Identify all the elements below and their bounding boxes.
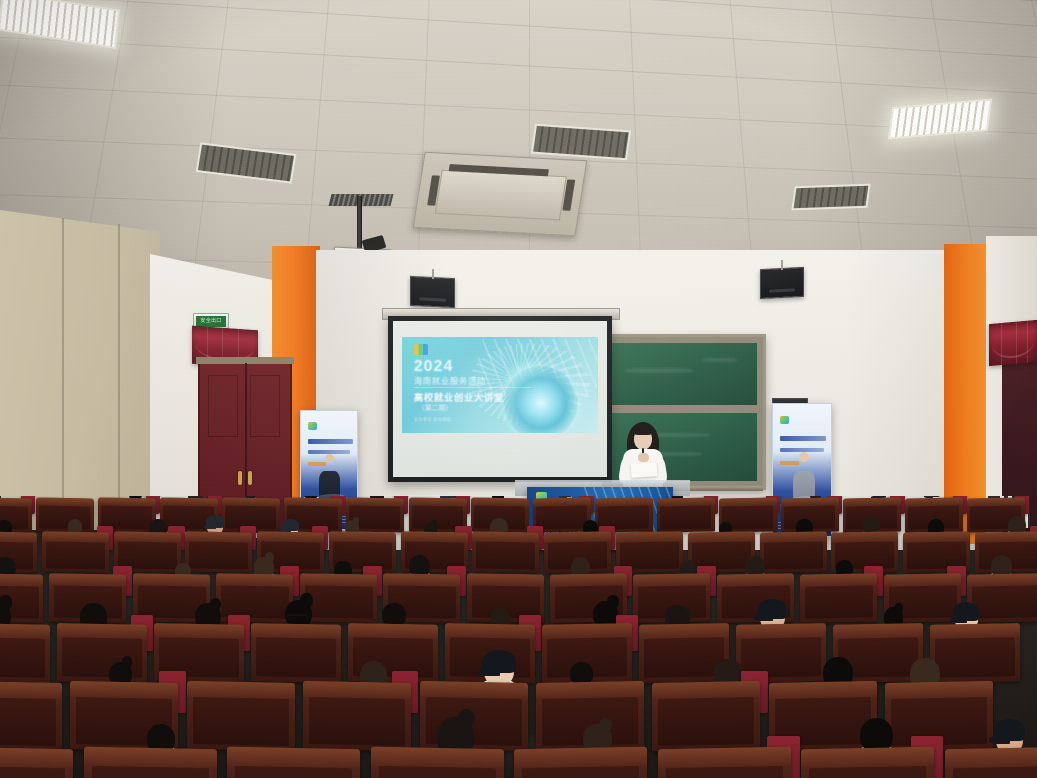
seat-back-panel bbox=[809, 766, 926, 778]
seat-back-panel bbox=[764, 541, 823, 569]
audience-person-cap bbox=[206, 515, 224, 528]
seat-back-panel bbox=[0, 766, 65, 778]
seat-top-rail bbox=[658, 747, 791, 768]
lecture-hall-seat[interactable] bbox=[801, 747, 934, 778]
projector-mount-pole bbox=[357, 196, 362, 252]
lecture-hall-seat[interactable] bbox=[652, 681, 760, 751]
wall-beige-left bbox=[0, 210, 160, 530]
seat-back-panel bbox=[310, 697, 405, 745]
seat-top-rail bbox=[187, 681, 295, 699]
door-handle-right[interactable] bbox=[248, 471, 252, 485]
seat-back-panel bbox=[659, 697, 754, 745]
exit-sign-label: 安全出口 bbox=[200, 319, 221, 324]
seat-back-panel bbox=[221, 585, 289, 619]
seat-top-rail bbox=[801, 747, 934, 768]
wall-seam-1 bbox=[62, 218, 64, 530]
audience-person-hair-bun bbox=[353, 517, 359, 524]
audience-person-cap bbox=[953, 602, 979, 620]
presenter-notes bbox=[631, 462, 658, 478]
seat-top-rail bbox=[84, 747, 217, 768]
banner-left-title-1 bbox=[308, 439, 353, 444]
audience-person-hair-bun bbox=[894, 603, 903, 612]
seat-top-rail bbox=[133, 573, 210, 586]
seat-back-panel bbox=[660, 506, 711, 530]
audience-person-hair-bun bbox=[458, 709, 475, 727]
lecture-hall-seat[interactable] bbox=[0, 747, 73, 778]
seat-top-rail bbox=[303, 681, 411, 699]
seat-top-rail bbox=[0, 573, 43, 586]
seat-back-panel bbox=[379, 766, 496, 778]
lecture-hall-seat[interactable] bbox=[303, 681, 411, 751]
seat-top-rail bbox=[383, 573, 460, 586]
lecture-hall-seat[interactable] bbox=[930, 623, 1020, 683]
seat-top-rail bbox=[227, 747, 360, 768]
seat-back-panel bbox=[692, 541, 751, 569]
projection-screen-surface: 2024 海南就业服务活动 高校就业创业大讲堂 （第二期） 主办单位 承办单位 bbox=[393, 321, 607, 477]
seat-top-rail bbox=[945, 747, 1037, 768]
audience-person-hair-bun bbox=[599, 718, 612, 732]
seat-back-panel bbox=[536, 506, 587, 530]
lecture-hall-seat[interactable] bbox=[187, 681, 295, 751]
seat-back-panel bbox=[953, 766, 1037, 778]
seat-back-panel bbox=[193, 697, 288, 745]
seat-top-rail bbox=[0, 531, 37, 542]
seat-back-panel bbox=[907, 541, 966, 569]
lecture-hall-seat[interactable] bbox=[84, 747, 217, 778]
seat-back-panel bbox=[189, 541, 248, 569]
seat-top-rail bbox=[514, 747, 647, 768]
seat-top-rail bbox=[717, 573, 794, 586]
presenter-hand bbox=[638, 453, 649, 462]
seat-back-panel bbox=[118, 541, 177, 569]
lecture-hall-seat[interactable] bbox=[185, 531, 252, 572]
seat-top-rail bbox=[550, 573, 627, 586]
door-panel-upper-left bbox=[208, 375, 238, 437]
wall-speaker-right bbox=[760, 267, 804, 299]
seat-back-panel bbox=[620, 541, 679, 569]
seat-top-rail bbox=[967, 573, 1037, 586]
ac-face-panel bbox=[435, 170, 566, 220]
audience-person-hair-bun bbox=[265, 552, 274, 562]
seat-back-panel bbox=[304, 585, 372, 619]
lecture-hall-seat[interactable] bbox=[657, 497, 715, 532]
seat-back-panel bbox=[92, 766, 209, 778]
banner-right-portrait-head bbox=[799, 452, 809, 462]
wall-speaker-left bbox=[410, 276, 455, 308]
lecture-hall-seat[interactable] bbox=[472, 531, 539, 572]
banner-left-header bbox=[301, 411, 357, 451]
audience-person-glasses bbox=[287, 614, 307, 616]
seat-back-panel bbox=[805, 585, 873, 619]
seat-top-rail bbox=[800, 573, 877, 586]
event-logo-icon bbox=[414, 344, 428, 355]
lecture-hall-seat[interactable] bbox=[800, 573, 877, 622]
seat-top-rail bbox=[70, 681, 178, 699]
audience-person-hair-bun bbox=[210, 598, 222, 610]
banner-left-logo-icon bbox=[308, 422, 317, 430]
seat-back-panel bbox=[666, 766, 783, 778]
seat-top-rail bbox=[467, 573, 544, 586]
slide-line-3: （第二期） bbox=[418, 403, 453, 413]
wall-seam-2 bbox=[118, 224, 120, 530]
lecture-hall-seat[interactable] bbox=[0, 623, 50, 683]
seat-top-rail bbox=[633, 573, 710, 586]
audience-person-cap bbox=[994, 719, 1025, 741]
lecture-hall-seat[interactable] bbox=[227, 747, 360, 778]
lecture-hall-seat[interactable] bbox=[42, 531, 109, 572]
seat-top-rail bbox=[216, 573, 293, 586]
seat-top-rail bbox=[884, 573, 961, 586]
banner-right-title-1 bbox=[780, 436, 826, 441]
presenter-fringe bbox=[632, 424, 654, 435]
seated-student-audience bbox=[0, 496, 1037, 778]
audience-person-hair-bun bbox=[122, 656, 133, 667]
seat-back-panel bbox=[235, 766, 352, 778]
seat-back-panel bbox=[972, 585, 1037, 619]
slide-year: 2024 bbox=[414, 358, 454, 376]
slide-line-1: 海南就业服务活动 bbox=[414, 375, 486, 387]
ceiling-light-panel-5 bbox=[791, 184, 870, 211]
seat-top-rail bbox=[420, 681, 528, 699]
audience-person-cap bbox=[758, 599, 786, 619]
seat-back-panel bbox=[935, 637, 1014, 678]
lecture-hall-seat[interactable] bbox=[251, 623, 341, 683]
ceiling-cassette-air-conditioner bbox=[413, 152, 588, 237]
lecture-hall-seat[interactable] bbox=[760, 531, 827, 572]
seat-top-rail bbox=[0, 747, 73, 768]
audience-person-hair-bun bbox=[607, 595, 619, 607]
banner-left-portrait-head bbox=[325, 454, 335, 464]
seat-back-panel bbox=[46, 541, 105, 569]
lecture-hall-seat[interactable] bbox=[0, 681, 62, 751]
slide-divider bbox=[414, 387, 532, 388]
lecture-hall-seat[interactable] bbox=[945, 747, 1037, 778]
chalkboard-upper-panel bbox=[609, 341, 759, 407]
seat-back-panel bbox=[256, 637, 335, 678]
audience-person-cap bbox=[282, 519, 299, 531]
door-handle-left[interactable] bbox=[238, 471, 242, 485]
lecture-hall-seat[interactable] bbox=[658, 747, 791, 778]
seat-top-rail bbox=[300, 573, 377, 586]
lecture-hall-seat[interactable] bbox=[514, 747, 647, 778]
lecture-hall-seat[interactable] bbox=[371, 747, 504, 778]
lecture-hall-seat[interactable] bbox=[57, 623, 147, 683]
audience-person-hair-bun bbox=[431, 520, 437, 527]
lecture-hall-photo: 安全出口 bbox=[0, 0, 1037, 778]
slide-line-2: 高校就业创业大讲堂 bbox=[414, 390, 504, 404]
seat-top-rail bbox=[0, 681, 62, 699]
projection-screen: 2024 海南就业服务活动 高校就业创业大讲堂 （第二期） 主办单位 承办单位 bbox=[388, 316, 612, 482]
curtain-valance-right bbox=[989, 320, 1037, 366]
seat-top-rail bbox=[49, 573, 126, 586]
banner-right-header bbox=[773, 404, 831, 449]
slide-footnote: 主办单位 承办单位 bbox=[414, 417, 451, 424]
door-panel-upper-right bbox=[250, 375, 280, 437]
banner-right-logo-icon bbox=[780, 416, 789, 424]
audience-person-hair-bun bbox=[0, 595, 12, 608]
slide-vortex-graphic bbox=[504, 366, 578, 433]
seat-back-panel bbox=[40, 506, 91, 530]
audience-person-hair-bun bbox=[300, 593, 312, 606]
lecture-hall-seat[interactable] bbox=[36, 497, 94, 532]
audience-person-cap bbox=[482, 650, 515, 673]
seat-back-panel bbox=[476, 541, 535, 569]
projected-slide: 2024 海南就业服务活动 高校就业创业大讲堂 （第二期） 主办单位 承办单位 bbox=[402, 337, 598, 433]
seat-back-panel bbox=[644, 637, 723, 678]
seat-back-panel bbox=[522, 766, 639, 778]
seat-top-rail bbox=[371, 747, 504, 768]
seat-top-rail bbox=[0, 623, 50, 639]
seat-back-panel bbox=[0, 697, 56, 745]
seat-back-panel bbox=[0, 637, 45, 678]
projection-screen-frame: 2024 海南就业服务活动 高校就业创业大讲堂 （第二期） 主办单位 承办单位 bbox=[388, 316, 612, 482]
